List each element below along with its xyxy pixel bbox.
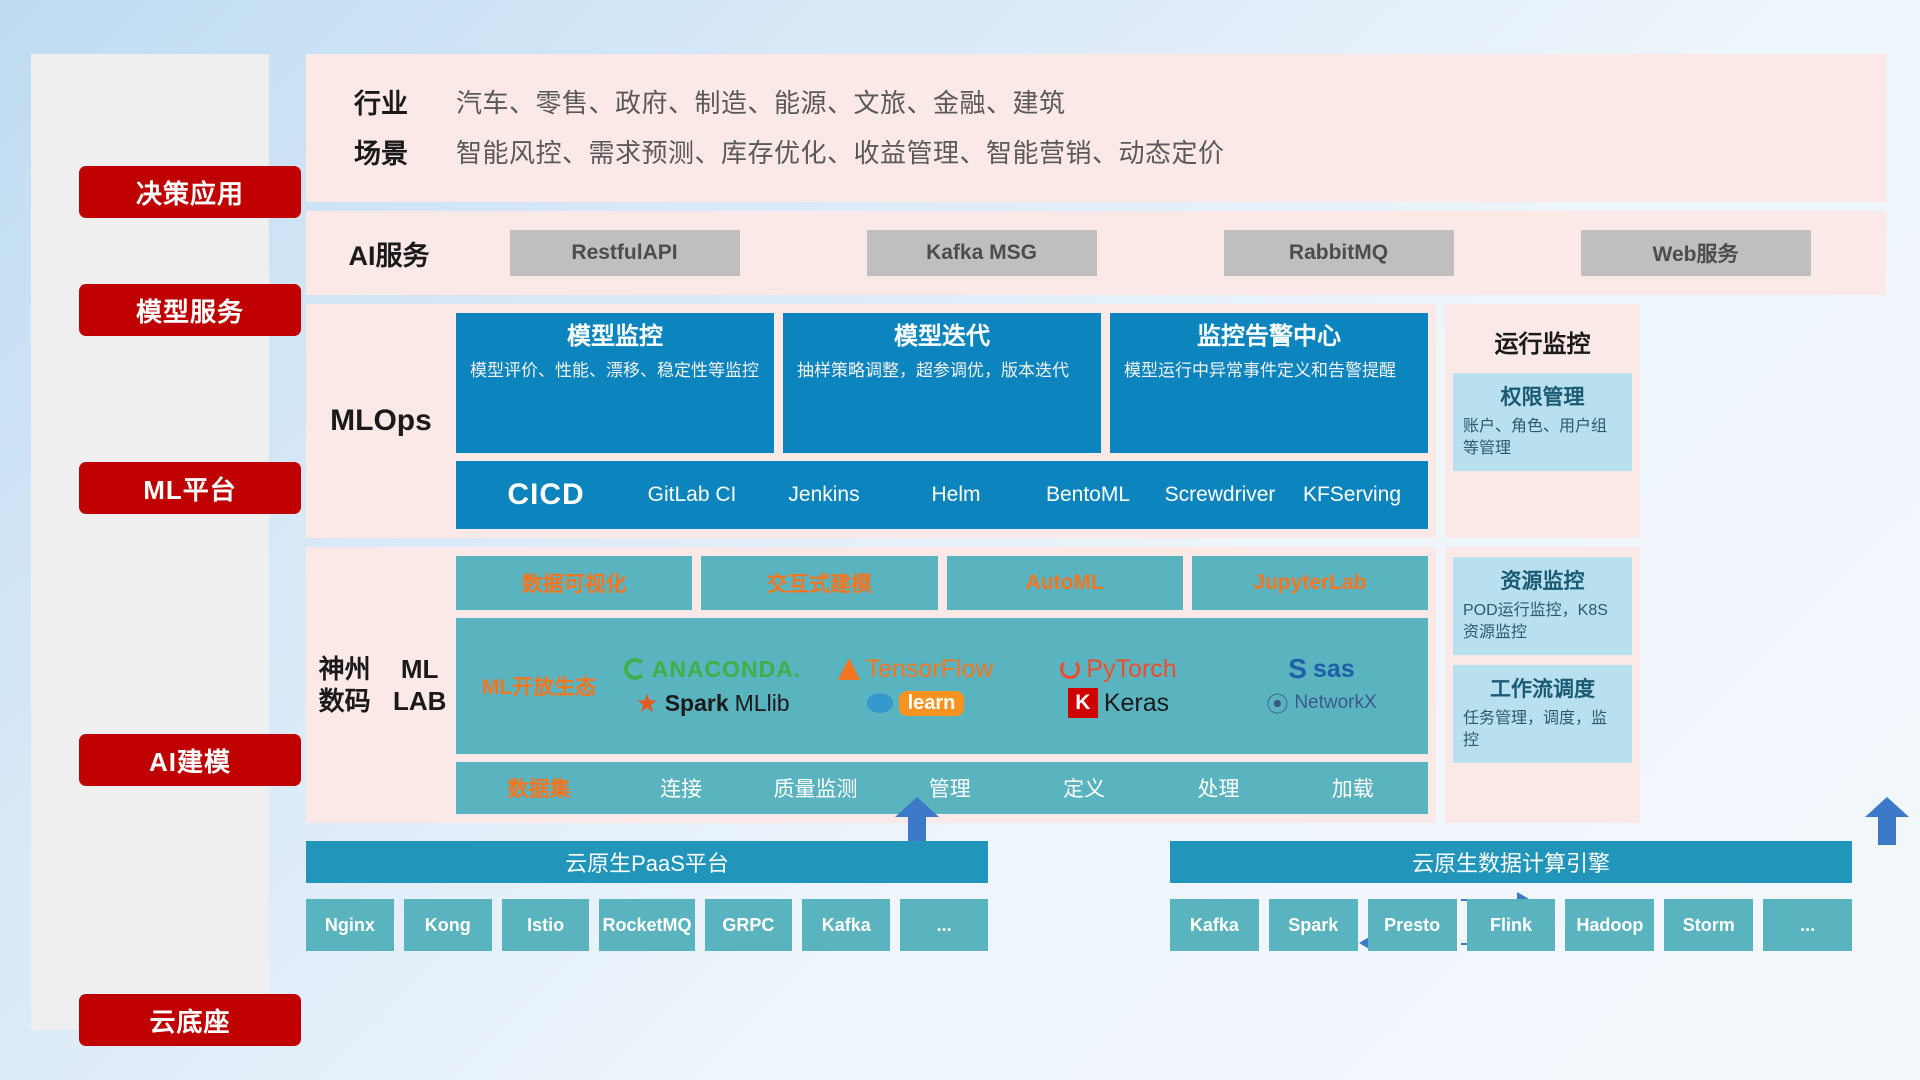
keras-logo: K Keras bbox=[1068, 688, 1169, 718]
scikit-learn-label: learn bbox=[899, 691, 965, 716]
ml-lab-tools: 数据可视化 交互式建模 AutoML JupyterLab bbox=[456, 556, 1428, 610]
business-band: 行业 汽车、零售、政府、制造、能源、文旅、金融、建筑 场景 智能风控、需求预测、… bbox=[306, 54, 1886, 202]
monitor-card-title: 权限管理 bbox=[1463, 381, 1622, 411]
dataset-items: 连接 质量监测 管理 定义 处理 加载 bbox=[614, 773, 1420, 803]
keras-label: Keras bbox=[1104, 689, 1169, 718]
cicd-item-helm[interactable]: Helm bbox=[890, 482, 1022, 508]
anaconda-label: ANACONDA. bbox=[652, 656, 802, 683]
monitor-card-desc: 账户、角色、用户组等管理 bbox=[1463, 416, 1622, 461]
mllib-label: MLlib bbox=[735, 690, 790, 717]
sas-label: sas bbox=[1313, 655, 1355, 684]
service-chip-web-service[interactable]: Web服务 bbox=[1581, 230, 1811, 276]
industry-label: 行业 bbox=[306, 82, 456, 121]
dataset-item-load[interactable]: 加载 bbox=[1286, 773, 1420, 803]
sas-swirl-icon: S bbox=[1288, 653, 1307, 685]
ml-lab-label-line1: 神州数码 bbox=[306, 653, 383, 718]
paas-chip-grpc[interactable]: GRPC bbox=[705, 899, 793, 951]
rail-label-ml-platform[interactable]: ML平台 bbox=[79, 462, 301, 514]
business-row-industry: 行业 汽车、零售、政府、制造、能源、文旅、金融、建筑 bbox=[306, 76, 1886, 126]
ml-open-ecosystem: ML开放生态 ANACONDA. TensorFlow bbox=[456, 618, 1428, 754]
monitoring-heading: 运行监控 bbox=[1495, 324, 1591, 359]
dataset-item-process[interactable]: 处理 bbox=[1151, 773, 1285, 803]
cicd-item-bentoml[interactable]: BentoML bbox=[1022, 482, 1154, 508]
networkx-label: NetworkX bbox=[1294, 692, 1376, 714]
ecosystem-logos: ANACONDA. TensorFlow PyTorch bbox=[614, 653, 1420, 719]
monitor-card-permission[interactable]: 权限管理 账户、角色、用户组等管理 bbox=[1453, 373, 1632, 471]
cicd-row: CICD GitLab CI Jenkins Helm BentoML Scre… bbox=[456, 461, 1428, 529]
mlops-band: MLOps 模型监控 模型评价、性能、漂移、稳定性等监控 模型迭代 抽样策略调整… bbox=[306, 304, 1886, 538]
data-chip-storm[interactable]: Storm bbox=[1664, 899, 1753, 951]
monitor-card-workflow[interactable]: 工作流调度 任务管理，调度，监控 bbox=[1453, 665, 1632, 763]
mlops-body: 模型监控 模型评价、性能、漂移、稳定性等监控 模型迭代 抽样策略调整，超参调优，… bbox=[456, 313, 1428, 529]
monitor-card-title: 工作流调度 bbox=[1463, 673, 1622, 703]
paas-chip-rocketmq[interactable]: RocketMQ bbox=[599, 899, 694, 951]
networkx-logo: ⦿ NetworkX bbox=[1266, 687, 1376, 719]
lab-tool-interactive-modeling[interactable]: 交互式建模 bbox=[701, 556, 937, 610]
monitor-card-desc: 任务管理，调度，监控 bbox=[1463, 708, 1622, 753]
paas-chip-nginx[interactable]: Nginx bbox=[306, 899, 394, 951]
service-chip-kafka-msg[interactable]: Kafka MSG bbox=[867, 230, 1097, 276]
data-chip-more[interactable]: ... bbox=[1763, 899, 1852, 951]
data-chip-hadoop[interactable]: Hadoop bbox=[1565, 899, 1654, 951]
dataset-item-connect[interactable]: 连接 bbox=[614, 773, 748, 803]
sas-logo: S sas bbox=[1288, 653, 1354, 685]
monitoring-sidebar-top: 运行监控 权限管理 账户、角色、用户组等管理 bbox=[1445, 304, 1640, 538]
data-chip-kafka[interactable]: Kafka bbox=[1170, 899, 1259, 951]
rail-label-decision-app[interactable]: 决策应用 bbox=[79, 166, 301, 218]
spark-mllib-logo: ★ Spark MLlib bbox=[635, 688, 789, 719]
mlops-label: MLOps bbox=[306, 313, 456, 529]
lab-tool-data-visualization[interactable]: 数据可视化 bbox=[456, 556, 692, 610]
paas-chip-more[interactable]: ... bbox=[900, 899, 988, 951]
paas-column: 云原生PaaS平台 Nginx Kong Istio RocketMQ GRPC… bbox=[306, 841, 988, 951]
pytorch-flame-icon bbox=[1060, 659, 1080, 679]
mlops-card-model-iteration[interactable]: 模型迭代 抽样策略调整，超参调优，版本迭代 bbox=[783, 313, 1101, 453]
anaconda-logo: ANACONDA. bbox=[624, 656, 802, 683]
lab-tool-jupyterlab[interactable]: JupyterLab bbox=[1192, 556, 1428, 610]
data-chip-flink[interactable]: Flink bbox=[1467, 899, 1556, 951]
cicd-item-screwdriver[interactable]: Screwdriver bbox=[1154, 482, 1286, 508]
paas-header: 云原生PaaS平台 bbox=[306, 841, 988, 883]
spark-label: Spark bbox=[665, 690, 729, 717]
dataset-item-quality-monitor[interactable]: 质量监测 bbox=[748, 773, 882, 803]
ml-lab-band: 神州数码 ML LAB 数据可视化 交互式建模 AutoML JupyterLa… bbox=[306, 547, 1886, 823]
cicd-label: CICD bbox=[466, 478, 626, 512]
tensorflow-mark-icon bbox=[838, 658, 860, 680]
ml-lab-body: 数据可视化 交互式建模 AutoML JupyterLab ML开放生态 ANA… bbox=[456, 556, 1428, 814]
mlops-card-desc: 模型评价、性能、漂移、稳定性等监控 bbox=[470, 359, 760, 384]
dataset-label: 数据集 bbox=[464, 773, 614, 803]
ml-lab-label-line2: ML LAB bbox=[383, 653, 456, 718]
mlops-card-desc: 模型运行中异常事件定义和告警提醒 bbox=[1124, 359, 1414, 384]
anaconda-ring-icon bbox=[624, 658, 646, 680]
data-chip-spark[interactable]: Spark bbox=[1269, 899, 1358, 951]
mlops-left: MLOps 模型监控 模型评价、性能、漂移、稳定性等监控 模型迭代 抽样策略调整… bbox=[306, 304, 1436, 538]
business-row-scenario: 场景 智能风控、需求预测、库存优化、收益管理、智能营销、动态定价 bbox=[306, 126, 1886, 176]
mlops-card-title: 模型迭代 bbox=[797, 323, 1087, 352]
rail-label-cloud-base[interactable]: 云底座 bbox=[79, 994, 301, 1046]
arrow-up-data-engine-icon bbox=[1865, 797, 1909, 845]
rail-label-model-service[interactable]: 模型服务 bbox=[79, 284, 301, 336]
mlops-card-desc: 抽样策略调整，超参调优，版本迭代 bbox=[797, 359, 1087, 384]
cicd-item-kfserving[interactable]: KFServing bbox=[1286, 482, 1418, 508]
monitoring-sidebar-bottom: 资源监控 POD运行监控，K8S资源监控 工作流调度 任务管理，调度，监控 bbox=[1445, 547, 1640, 823]
diagram-canvas: 决策应用 模型服务 ML平台 AI建模 云底座 行业 汽车、零售、政府、制造、能… bbox=[0, 0, 1920, 1080]
mlops-cards: 模型监控 模型评价、性能、漂移、稳定性等监控 模型迭代 抽样策略调整，超参调优，… bbox=[456, 313, 1428, 453]
ai-service-label: AI服务 bbox=[320, 234, 458, 273]
data-engine-column: 云原生数据计算引擎 Kafka Spark Presto Flink Hadoo… bbox=[1170, 841, 1852, 951]
ecosystem-label: ML开放生态 bbox=[464, 671, 614, 701]
mlops-card-title: 监控告警中心 bbox=[1124, 323, 1414, 352]
mlops-card-alert-center[interactable]: 监控告警中心 模型运行中异常事件定义和告警提醒 bbox=[1110, 313, 1428, 453]
service-chip-restfulapi[interactable]: RestfulAPI bbox=[510, 230, 740, 276]
pytorch-label: PyTorch bbox=[1086, 655, 1176, 684]
dataset-item-define[interactable]: 定义 bbox=[1017, 773, 1151, 803]
main-column: 行业 汽车、零售、政府、制造、能源、文旅、金融、建筑 场景 智能风控、需求预测、… bbox=[306, 54, 1886, 951]
ai-service-band: AI服务 RestfulAPI Kafka MSG RabbitMQ Web服务 bbox=[306, 211, 1886, 295]
data-chip-presto[interactable]: Presto bbox=[1368, 899, 1457, 951]
scikit-blob-icon bbox=[867, 693, 893, 713]
paas-chip-kafka[interactable]: Kafka bbox=[802, 899, 890, 951]
tensorflow-logo: TensorFlow bbox=[838, 655, 994, 684]
data-engine-header: 云原生数据计算引擎 bbox=[1170, 841, 1852, 883]
ml-lab-left: 神州数码 ML LAB 数据可视化 交互式建模 AutoML JupyterLa… bbox=[306, 547, 1436, 823]
keras-mark-icon: K bbox=[1068, 688, 1098, 718]
mlops-card-title: 模型监控 bbox=[470, 323, 760, 352]
dataset-row: 数据集 连接 质量监测 管理 定义 处理 加载 bbox=[456, 762, 1428, 814]
tensorflow-label: TensorFlow bbox=[866, 655, 994, 684]
monitor-card-resource[interactable]: 资源监控 POD运行监控，K8S资源监控 bbox=[1453, 557, 1632, 655]
data-engine-chips: Kafka Spark Presto Flink Hadoop Storm ..… bbox=[1170, 899, 1852, 951]
monitor-card-title: 资源监控 bbox=[1463, 565, 1622, 595]
paas-chips: Nginx Kong Istio RocketMQ GRPC Kafka ... bbox=[306, 899, 988, 951]
industry-values: 汽车、零售、政府、制造、能源、文旅、金融、建筑 bbox=[456, 83, 1066, 120]
pytorch-logo: PyTorch bbox=[1060, 655, 1176, 684]
scenario-values: 智能风控、需求预测、库存优化、收益管理、智能营销、动态定价 bbox=[456, 133, 1225, 170]
arrow-up-paas-icon bbox=[895, 797, 939, 845]
cicd-item-gitlab-ci[interactable]: GitLab CI bbox=[626, 482, 758, 508]
networkx-graph-icon: ⦿ bbox=[1266, 687, 1288, 719]
ai-service-items: RestfulAPI Kafka MSG RabbitMQ Web服务 bbox=[458, 230, 1872, 276]
scenario-label: 场景 bbox=[306, 132, 456, 171]
lab-tool-automl[interactable]: AutoML bbox=[947, 556, 1183, 610]
paas-chip-kong[interactable]: Kong bbox=[404, 899, 492, 951]
scikit-learn-logo: learn bbox=[867, 691, 965, 716]
spark-star-icon: ★ bbox=[635, 688, 658, 719]
cloud-base-band: 云原生PaaS平台 Nginx Kong Istio RocketMQ GRPC… bbox=[306, 841, 1886, 951]
ml-lab-label: 神州数码 ML LAB bbox=[306, 556, 456, 814]
cicd-items: GitLab CI Jenkins Helm BentoML Screwdriv… bbox=[626, 482, 1418, 508]
mlops-card-model-monitoring[interactable]: 模型监控 模型评价、性能、漂移、稳定性等监控 bbox=[456, 313, 774, 453]
left-rail: 决策应用 模型服务 ML平台 AI建模 云底座 bbox=[31, 54, 269, 1030]
service-chip-rabbitmq[interactable]: RabbitMQ bbox=[1224, 230, 1454, 276]
paas-chip-istio[interactable]: Istio bbox=[502, 899, 590, 951]
cicd-item-jenkins[interactable]: Jenkins bbox=[758, 482, 890, 508]
monitor-card-desc: POD运行监控，K8S资源监控 bbox=[1463, 600, 1622, 645]
rail-label-ai-modeling[interactable]: AI建模 bbox=[79, 734, 301, 786]
